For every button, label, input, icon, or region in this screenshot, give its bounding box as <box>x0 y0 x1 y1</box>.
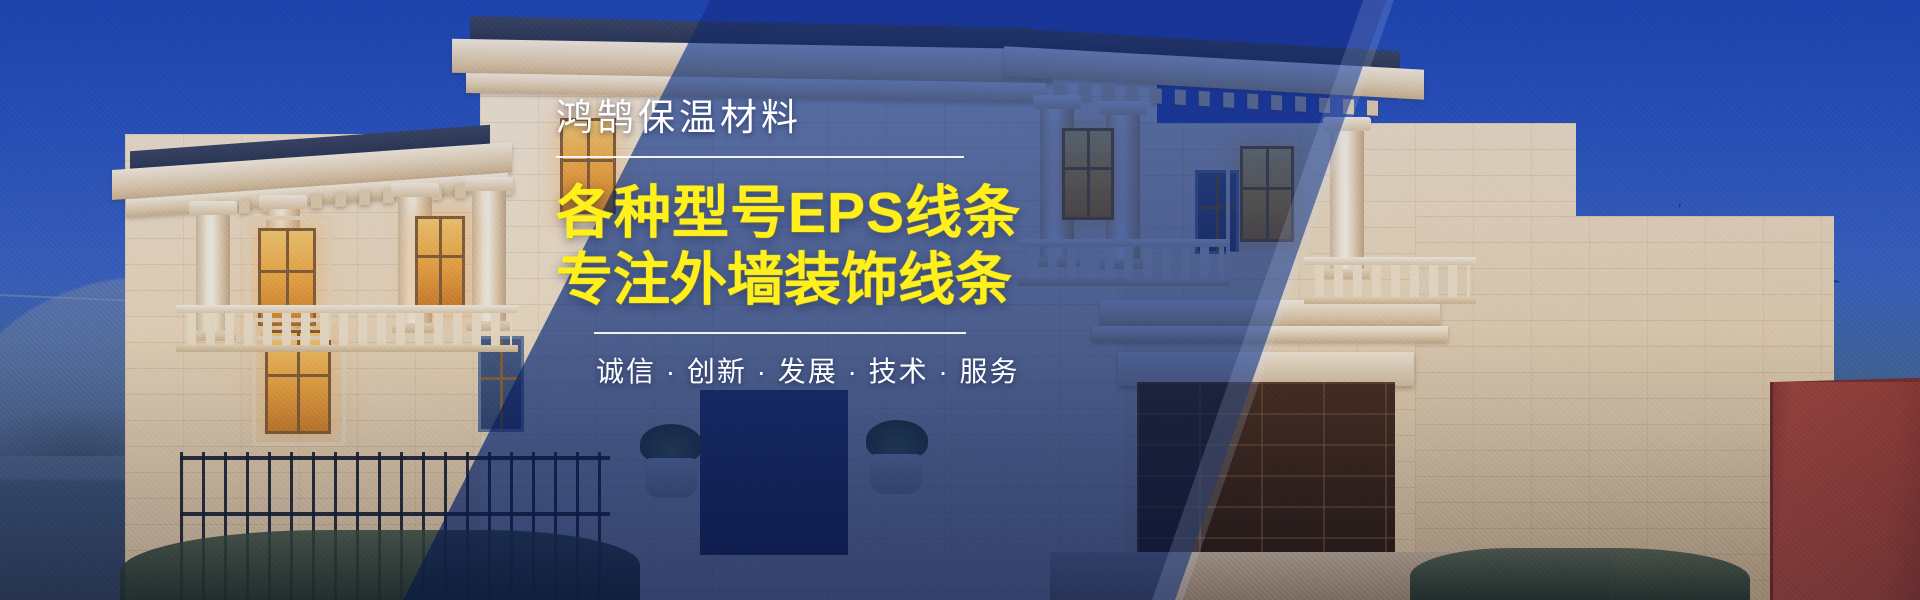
planter <box>870 454 922 494</box>
column <box>1330 130 1364 270</box>
divider-bottom <box>594 332 966 334</box>
promo-banner: 鸿鹄保温材料 各种型号EPS线条 专注外墙装饰线条 诚信 · 创新 · 发展 ·… <box>0 0 1920 600</box>
balustrade <box>182 312 512 346</box>
headline-block: 各种型号EPS线条 专注外墙装饰线条 <box>556 180 1026 315</box>
cornice-garage-2 <box>1092 326 1448 342</box>
headline-line-2: 专注外墙装饰线条 <box>556 247 1026 314</box>
balustrade <box>1024 246 1224 280</box>
fence-mid-rail <box>180 512 610 516</box>
entry-doorway <box>700 390 848 555</box>
lit-window <box>1062 128 1114 220</box>
hedge <box>1410 548 1750 600</box>
balustrade <box>1310 264 1470 298</box>
red-wall <box>1770 382 1920 600</box>
column <box>472 190 506 322</box>
planter <box>645 458 697 498</box>
garage-door <box>1137 382 1395 568</box>
lit-window <box>415 216 465 308</box>
banner-content: 鸿鹄保温材料 各种型号EPS线条 专注外墙装饰线条 诚信 · 创新 · 发展 ·… <box>556 96 1026 390</box>
brand-name: 鸿鹄保温材料 <box>556 96 1026 140</box>
hedge <box>120 530 640 600</box>
headline-line-1: 各种型号EPS线条 <box>556 180 1026 247</box>
garage-arch <box>1118 352 1414 386</box>
tagline: 诚信 · 创新 · 发展 · 技术 · 服务 <box>596 350 1026 390</box>
window-surround <box>1226 134 1310 256</box>
divider-top <box>556 156 964 158</box>
